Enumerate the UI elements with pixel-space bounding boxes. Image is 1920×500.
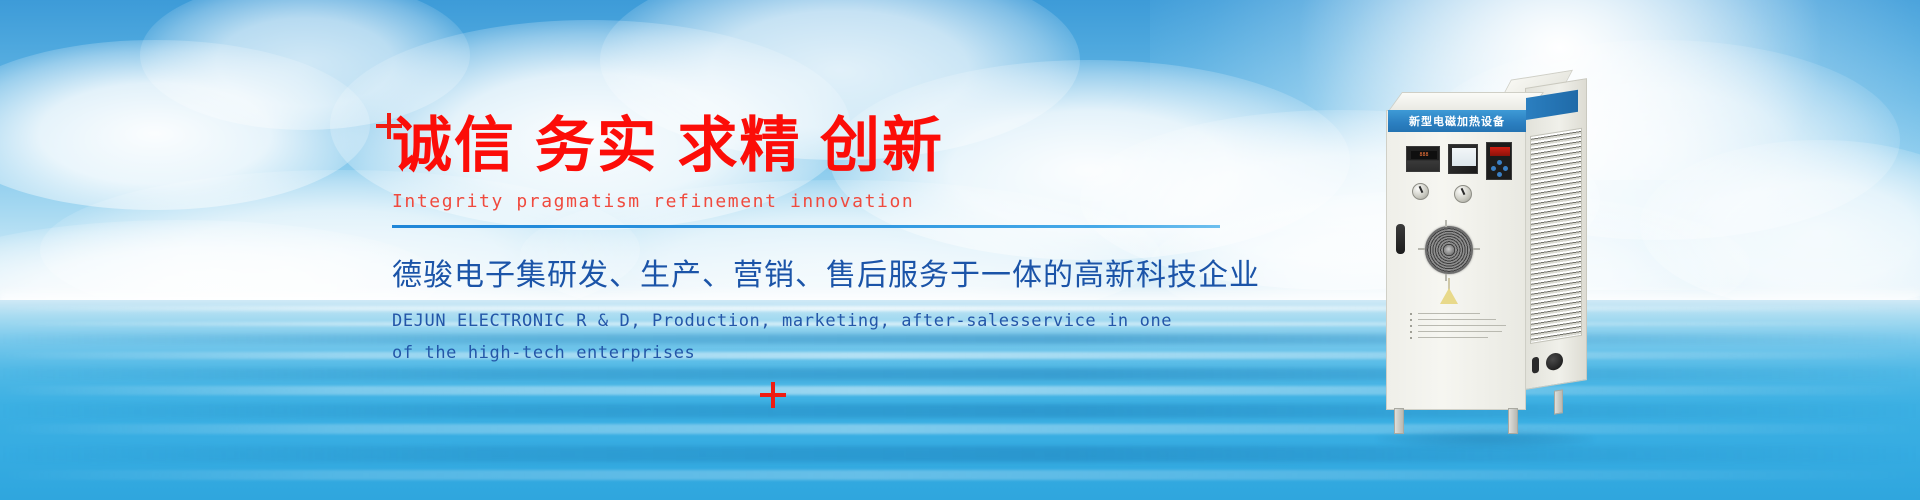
subtitle-english-line-1: DEJUN ELECTRONIC R & D, Production, mark… bbox=[392, 306, 1242, 337]
spec-bullet bbox=[1410, 319, 1412, 321]
spec-line bbox=[1418, 313, 1480, 314]
front-vent-slot bbox=[1396, 224, 1405, 254]
divider-rule bbox=[392, 225, 1220, 228]
fan-screw bbox=[1445, 274, 1447, 281]
sea-streak bbox=[0, 386, 1920, 395]
fan-screw bbox=[1445, 220, 1447, 227]
machine-shadow bbox=[1378, 430, 1593, 448]
meter-readout: 888 bbox=[1411, 151, 1437, 159]
headline-english: Integrity pragmatism refinement innovati… bbox=[392, 191, 1242, 212]
keypad-key-down[interactable] bbox=[1497, 172, 1502, 177]
keypad-key-right[interactable] bbox=[1503, 166, 1508, 171]
selector-knob-left[interactable] bbox=[1412, 183, 1429, 200]
headline-chinese: 诚信 务实 求精 创新 bbox=[392, 112, 1242, 179]
spec-line bbox=[1418, 331, 1502, 332]
machine-label-band: 新型电磁加热设备 bbox=[1388, 110, 1526, 132]
control-keypad[interactable] bbox=[1486, 142, 1512, 180]
spec-bullet bbox=[1410, 337, 1412, 339]
subtitle-english-line-2: of the high-tech enterprises bbox=[392, 338, 1242, 369]
sea-shadow bbox=[0, 404, 1920, 418]
keypad-buttons[interactable] bbox=[1491, 160, 1509, 177]
spec-line bbox=[1418, 319, 1496, 320]
machine-leg bbox=[1508, 408, 1518, 434]
analog-gauge bbox=[1448, 144, 1478, 174]
spec-bullet bbox=[1410, 331, 1412, 333]
spec-line bbox=[1418, 325, 1506, 326]
hero-banner: 诚信 务实 求精 创新 Integrity pragmatism refinem… bbox=[0, 0, 1920, 500]
product-machine: 新型电磁加热设备 888 bbox=[1378, 78, 1608, 438]
fan-screw bbox=[1473, 248, 1480, 250]
subtitle-english: DEJUN ELECTRONIC R & D, Production, mark… bbox=[392, 306, 1242, 369]
spec-bullets bbox=[1410, 313, 1412, 343]
selector-knob-right[interactable] bbox=[1454, 185, 1472, 203]
subtitle-chinese: 德骏电子集研发、生产、营销、售后服务于一体的高新科技企业 bbox=[392, 250, 1242, 294]
exhaust-fan-icon bbox=[1425, 226, 1473, 274]
sea-shadow bbox=[0, 446, 1920, 462]
keypad-key-left[interactable] bbox=[1491, 166, 1496, 171]
spec-line bbox=[1418, 337, 1488, 338]
sea-shadow bbox=[0, 368, 1920, 380]
side-port-round bbox=[1546, 352, 1563, 372]
keypad-key-up[interactable] bbox=[1497, 160, 1502, 165]
sea-streak bbox=[0, 424, 1920, 434]
gauge-dial bbox=[1452, 148, 1476, 166]
side-ventilation-louvers bbox=[1530, 128, 1582, 344]
sea-streak bbox=[0, 470, 1920, 480]
digital-temperature-meter[interactable]: 888 bbox=[1406, 146, 1440, 172]
warning-triangle-icon bbox=[1440, 288, 1458, 304]
spec-bullet bbox=[1410, 325, 1412, 327]
side-port-rect bbox=[1532, 357, 1539, 374]
fan-screw bbox=[1418, 248, 1425, 250]
spec-text-lines bbox=[1418, 313, 1510, 343]
keypad-display bbox=[1490, 147, 1510, 156]
machine-leg bbox=[1394, 408, 1404, 434]
machine-leg bbox=[1554, 389, 1563, 414]
banner-copy: 诚信 务实 求精 创新 Integrity pragmatism refinem… bbox=[392, 112, 1242, 369]
machine-label-text: 新型电磁加热设备 bbox=[1409, 113, 1505, 129]
spec-bullet bbox=[1410, 313, 1412, 315]
